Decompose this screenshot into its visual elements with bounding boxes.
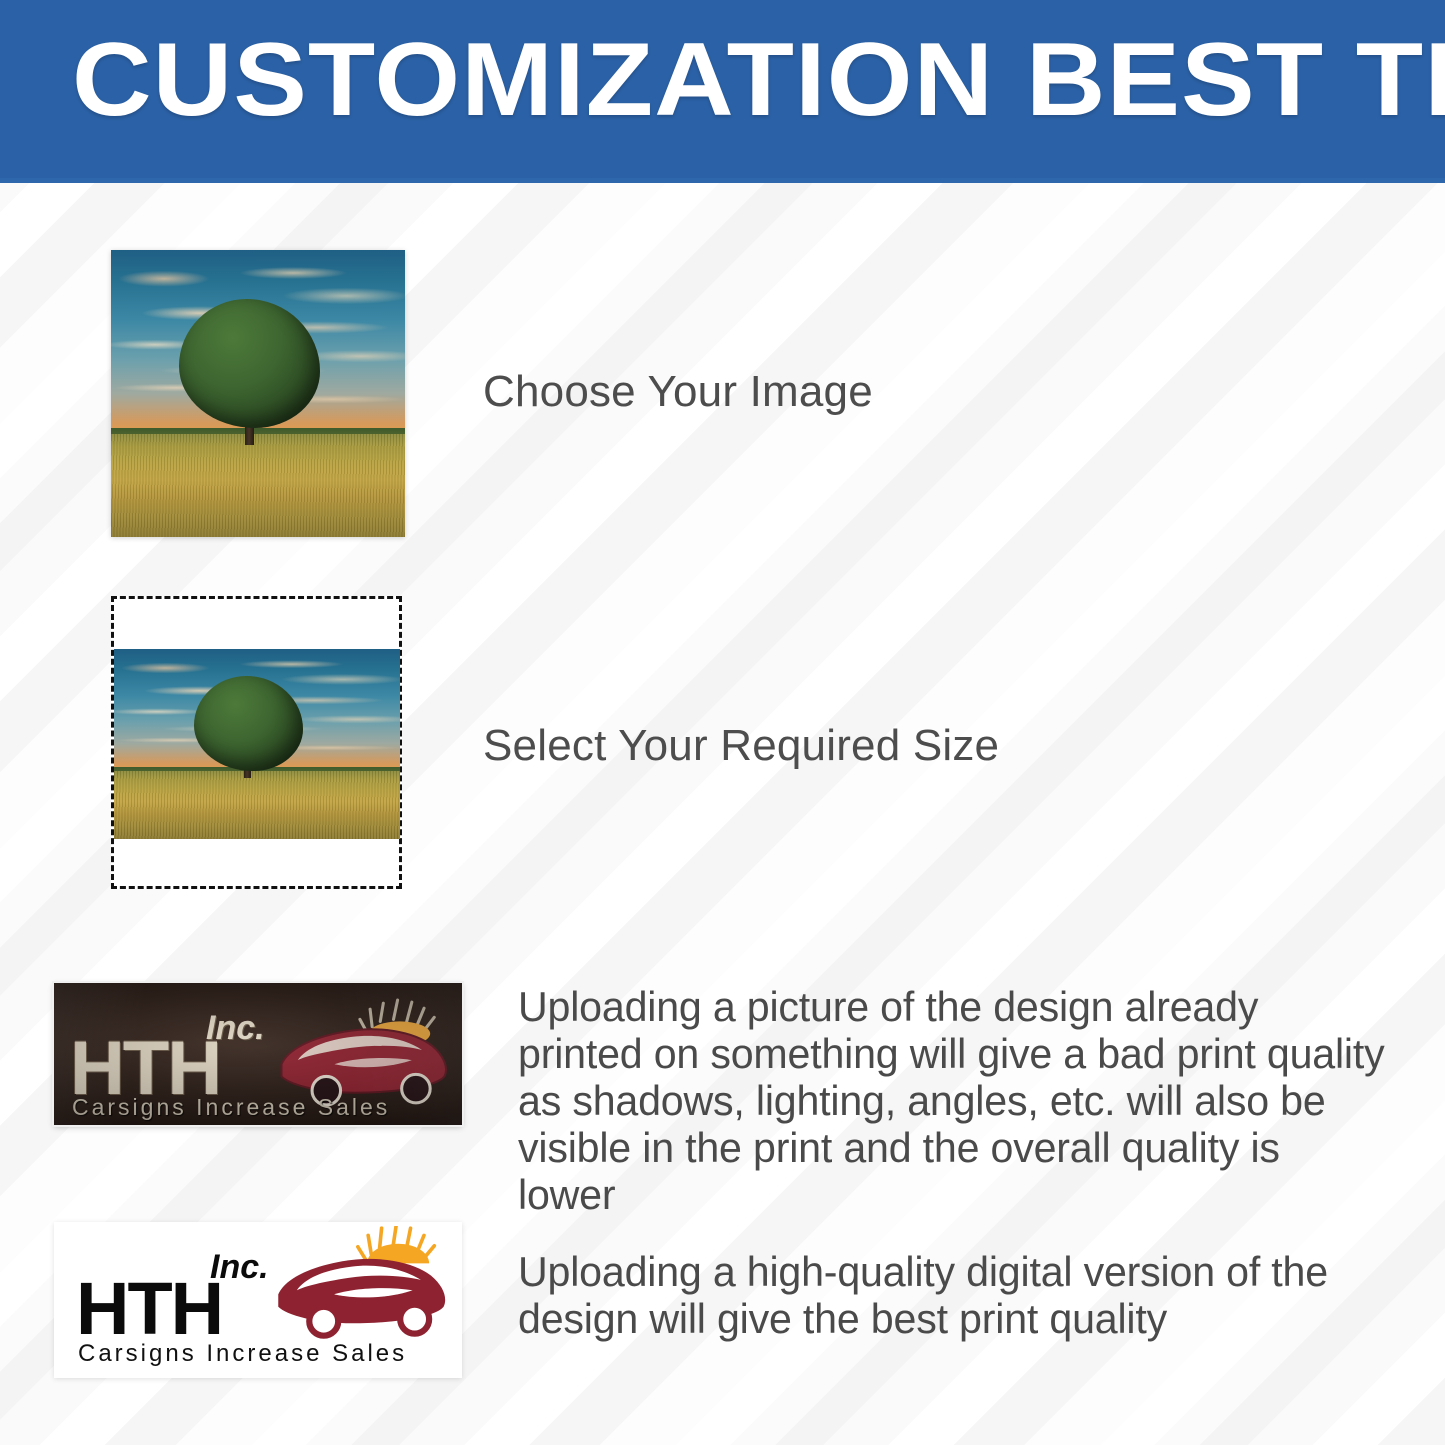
header-banner: CUSTOMIZATION BEST TIPS xyxy=(0,0,1445,183)
car-icon xyxy=(272,997,458,1109)
tip-1-photo-square xyxy=(111,250,405,537)
tip-2-crop-box[interactable] xyxy=(111,596,402,889)
tip-2-label: Select Your Required Size xyxy=(483,720,1283,772)
car-icon xyxy=(270,1226,456,1340)
tip-3-label: Uploading a picture of the design alread… xyxy=(518,983,1388,1218)
logo-tagline: Carsigns Increase Sales xyxy=(72,1096,390,1119)
tip-4-logo-clean: HTH Inc. Carsigns Increase Sales xyxy=(54,1222,462,1378)
infographic-page: CUSTOMIZATION BEST TIPS Choose Your Imag… xyxy=(0,0,1445,1445)
logo-tagline: Carsigns Increase Sales xyxy=(78,1342,407,1366)
tip-2-photo-landscape xyxy=(114,649,400,839)
logo-suffix: Inc. xyxy=(206,1011,265,1045)
logo-suffix: Inc. xyxy=(210,1250,269,1284)
tip-4-label: Uploading a high-quality digital version… xyxy=(518,1248,1361,1342)
logo-wordmark: HTH xyxy=(76,1272,222,1346)
photo-field xyxy=(114,771,400,839)
tip-1-label: Choose Your Image xyxy=(483,366,1243,418)
page-title: CUSTOMIZATION BEST TIPS xyxy=(72,24,1445,136)
tip-3-logo-dark-banner: HTH Inc. Carsigns Increase Sales xyxy=(54,983,462,1125)
photo-field xyxy=(111,434,405,537)
